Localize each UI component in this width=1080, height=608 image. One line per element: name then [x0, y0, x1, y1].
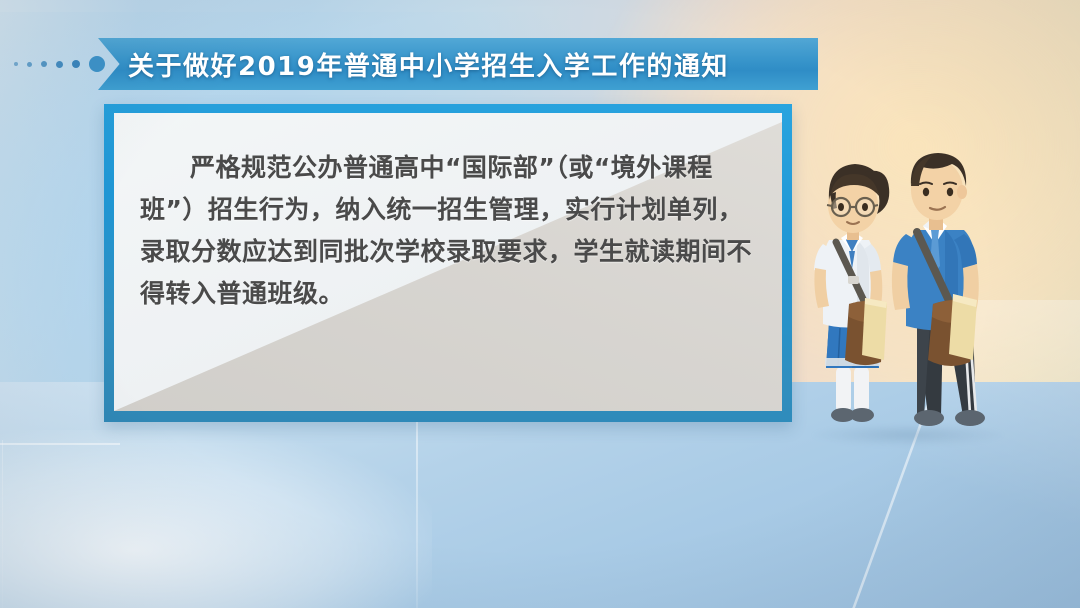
dot-icon: [27, 62, 32, 67]
girl-student-figure: [814, 164, 889, 422]
floor-seam-line: [416, 404, 418, 608]
title-banner: 关于做好2019年普通中小学招生入学工作的通知: [0, 38, 840, 90]
floor-horizontal-seam: [0, 443, 120, 445]
dot-icon: [14, 62, 18, 66]
floor-seam-line: [2, 440, 3, 608]
dot-icon: [56, 61, 63, 68]
dot-icon: [41, 61, 47, 67]
background-floor-highlight: [0, 430, 432, 608]
policy-body-text: 严格规范公办普通高中“国际部”（或“境外课程班”）招生行为，纳入统一招生管理，实…: [114, 113, 782, 315]
boy-student-figure: [892, 153, 985, 426]
content-panel-inner: 严格规范公办普通高中“国际部”（或“境外课程班”）招生行为，纳入统一招生管理，实…: [114, 113, 782, 411]
students-illustration: [805, 152, 1015, 442]
broadcast-slide: 关于做好2019年普通中小学招生入学工作的通知 严格规范公办普通高中“国际部”（…: [0, 0, 1080, 608]
decorative-dots: [14, 56, 105, 72]
content-panel: 严格规范公办普通高中“国际部”（或“境外课程班”）招生行为，纳入统一招生管理，实…: [104, 104, 792, 422]
page-title: 关于做好2019年普通中小学招生入学工作的通知: [128, 38, 729, 90]
dot-icon: [72, 60, 80, 68]
dot-large-icon: [89, 56, 105, 72]
